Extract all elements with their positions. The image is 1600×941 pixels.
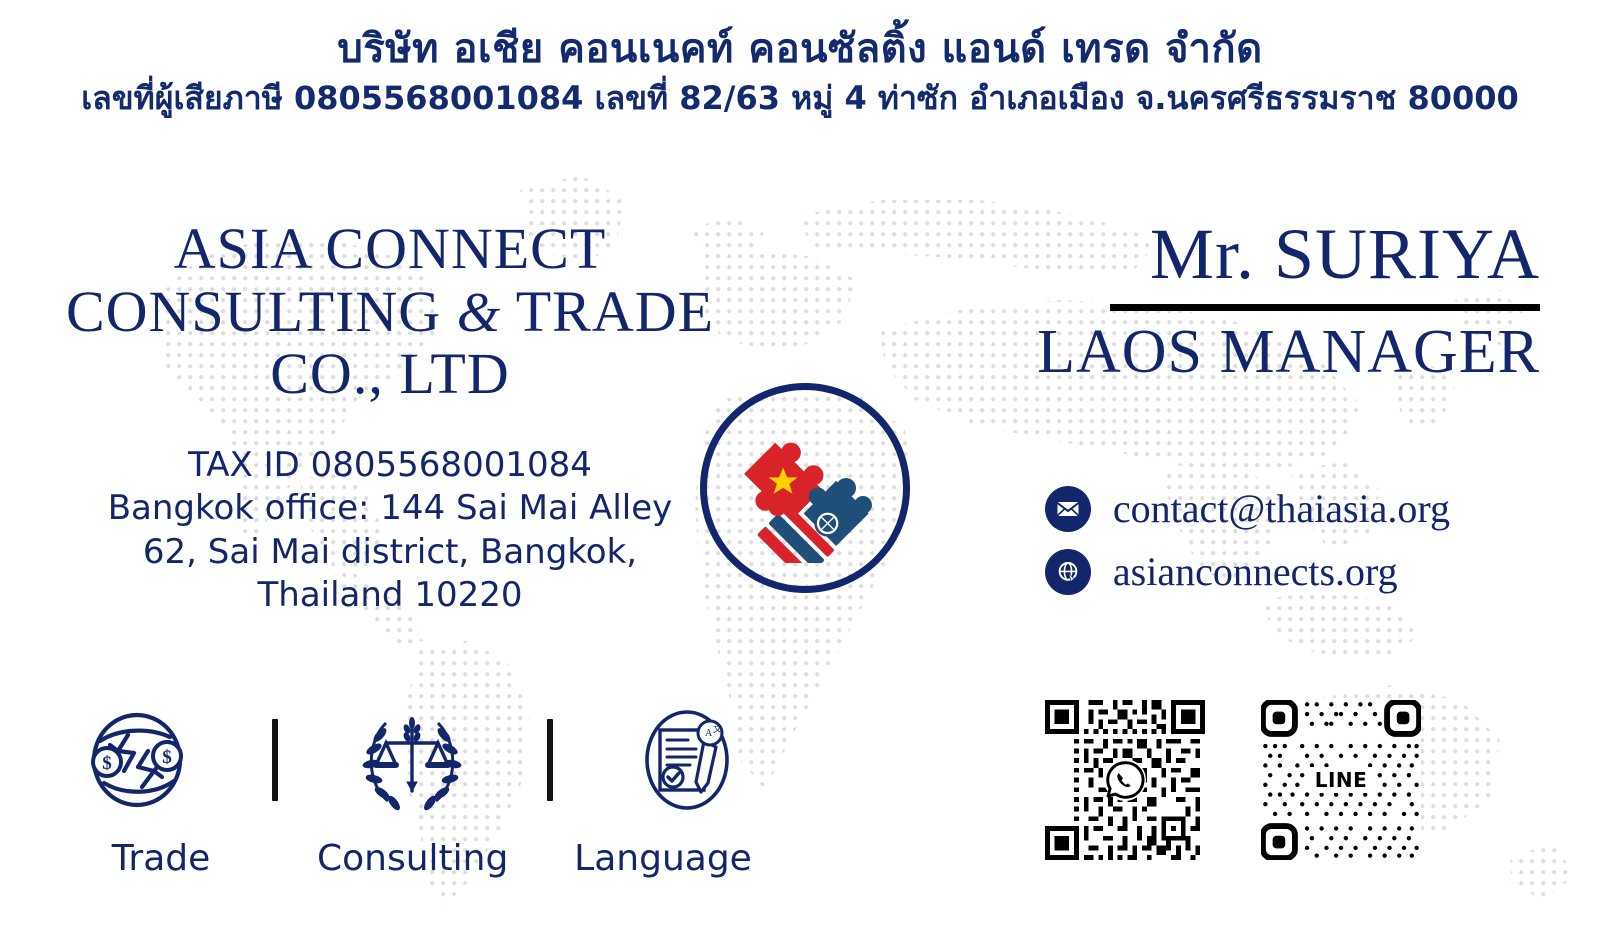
company-address-block: TAX ID 0805568001084 Bangkok office: 144…: [60, 444, 720, 618]
whatsapp-qr[interactable]: [1045, 700, 1205, 860]
thai-tax-address-line: เลขที่ผู้เสียภาษี 0805568001084 เลขที่ 8…: [0, 78, 1600, 118]
service-label-language: Language: [568, 838, 758, 879]
service-divider-2: [547, 719, 553, 801]
globe-exchange-dollar-icon: $ $: [78, 707, 196, 813]
address-line-1: Bangkok office: 144 Sai Mai Alley: [60, 487, 720, 531]
services-block: $ $: [62, 700, 762, 879]
tax-id-line: TAX ID 0805568001084: [60, 444, 720, 488]
service-label-row: Trade Consulting Language: [62, 838, 762, 879]
line-qr[interactable]: LINE: [1261, 700, 1421, 860]
person-name: Mr. SURIYA: [940, 218, 1540, 290]
email-value: contact@thaiasia.org: [1113, 485, 1450, 532]
company-name-line-2-after: TRADE: [501, 279, 714, 344]
thai-header: บริษัท อเชีย คอนเนคท์ คอนซัลติ้ง แอนด์ เ…: [0, 26, 1600, 118]
company-name-line-2: CONSULTING & TRADE: [60, 281, 720, 344]
business-card: บริษัท อเชีย คอนเนคท์ คอนซัลติ้ง แอนด์ เ…: [0, 0, 1600, 941]
company-info-block: ASIA CONNECT CONSULTING & TRADE CO., LTD…: [60, 218, 720, 618]
contact-row-website[interactable]: asianconnects.org: [1045, 548, 1450, 595]
puzzle-flags-logo: [700, 383, 910, 593]
address-line-3: Thailand 10220: [60, 574, 720, 618]
website-value: asianconnects.org: [1113, 548, 1398, 595]
qr-code-group: LINE: [1045, 700, 1421, 860]
service-label-trade: Trade: [66, 838, 256, 879]
person-title: LAOS MANAGER: [940, 321, 1540, 383]
company-name: ASIA CONNECT CONSULTING & TRADE CO., LTD: [60, 218, 720, 406]
service-label-consulting: Consulting: [317, 838, 507, 879]
company-name-line-2-before: CONSULTING: [66, 279, 457, 344]
person-block: Mr. SURIYA LAOS MANAGER: [940, 218, 1540, 383]
contact-list: contact@thaiasia.org asianconnects.org: [1045, 485, 1450, 611]
thai-company-name: บริษัท อเชีย คอนเนคท์ คอนซัลติ้ง แอนด์ เ…: [0, 26, 1600, 72]
globe-icon: [1045, 549, 1091, 595]
svg-text:文: 文: [713, 723, 722, 734]
address-line-2: 62, Sai Mai district, Bangkok,: [60, 531, 720, 575]
service-icon-row: $ $: [62, 700, 762, 820]
document-pen-icon: A 文: [628, 705, 746, 815]
envelope-icon: [1045, 486, 1091, 532]
svg-text:A: A: [705, 728, 713, 739]
whatsapp-icon: [1104, 759, 1146, 801]
service-divider-1: [272, 719, 278, 801]
contact-row-email[interactable]: contact@thaiasia.org: [1045, 485, 1450, 532]
company-name-line-1: ASIA CONNECT: [60, 218, 720, 281]
svg-text:$: $: [102, 753, 112, 774]
ampersand-glyph: &: [457, 282, 502, 344]
line-label: LINE: [1309, 767, 1374, 793]
scales-laurel-icon: [353, 707, 471, 813]
name-divider-rule: [1110, 304, 1540, 311]
svg-text:$: $: [162, 747, 172, 768]
company-name-line-3: CO., LTD: [60, 343, 720, 406]
